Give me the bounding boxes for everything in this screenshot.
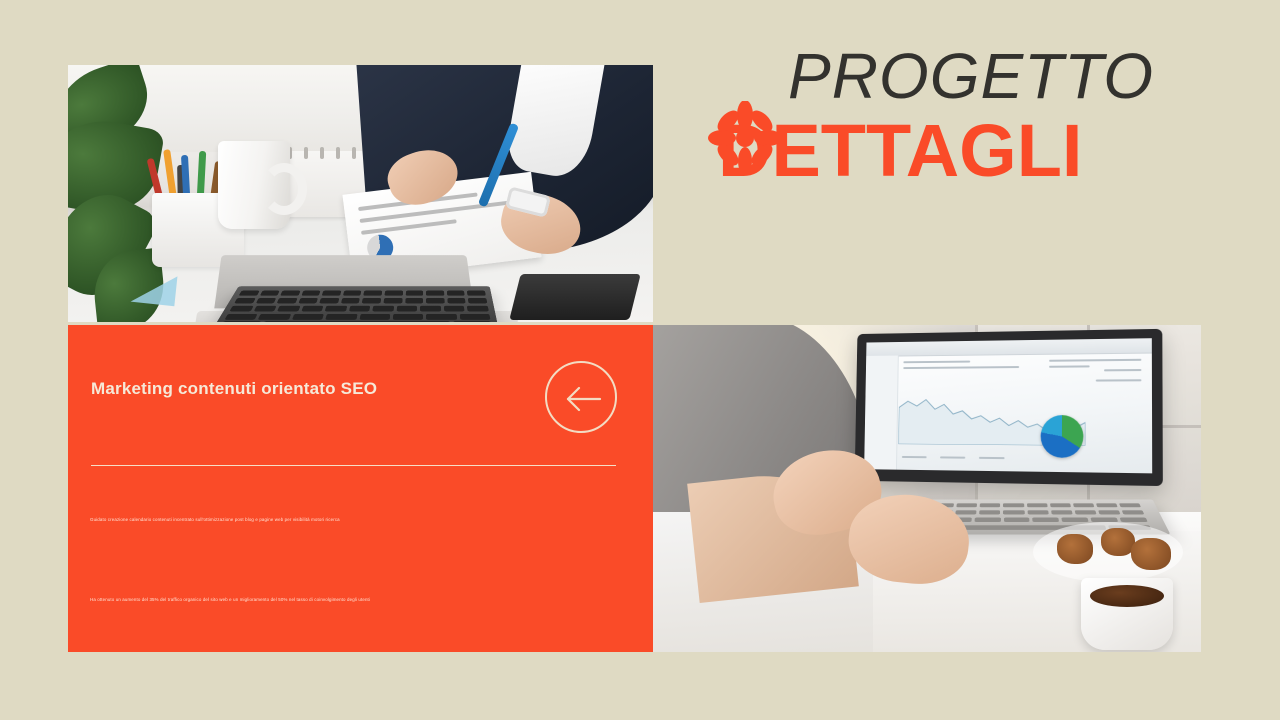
desk-scene [68, 65, 653, 322]
coffee-cup [1081, 578, 1173, 650]
title-main: DETTAGLI [718, 114, 1208, 188]
paper-triangle [131, 272, 178, 306]
laptop-keyboard [212, 286, 499, 322]
analytics-dashboard [864, 338, 1152, 473]
panel-paragraph-2: Ha ottenuto un aumento del 35% del traff… [90, 597, 620, 604]
panel-heading: Marketing contenuti orientato SEO [91, 378, 511, 399]
cookie-icon [1131, 538, 1171, 570]
coffee-mug [218, 141, 290, 229]
laptop-screen [855, 329, 1163, 486]
slide-title-block: DETTAGLI PROGETTO [700, 46, 1220, 336]
arrow-left-circle-icon[interactable] [545, 361, 617, 433]
photo-laptop-analytics [653, 325, 1201, 652]
panel-paragraph-1: Guidato creazione calendario contenuti i… [90, 517, 620, 524]
tablet-device [509, 274, 640, 320]
photo-desk-meeting [68, 65, 653, 322]
cookie-icon [1101, 528, 1135, 556]
cookie-icon [1057, 534, 1093, 564]
divider [91, 465, 616, 466]
title-overline: PROGETTO [788, 46, 1218, 107]
starburst-icon [708, 101, 782, 183]
content-panel: Marketing contenuti orientato SEO Guidat… [68, 325, 653, 652]
presentation-slide: Marketing contenuti orientato SEO Guidat… [0, 0, 1280, 720]
pie-chart-icon [1041, 415, 1084, 458]
